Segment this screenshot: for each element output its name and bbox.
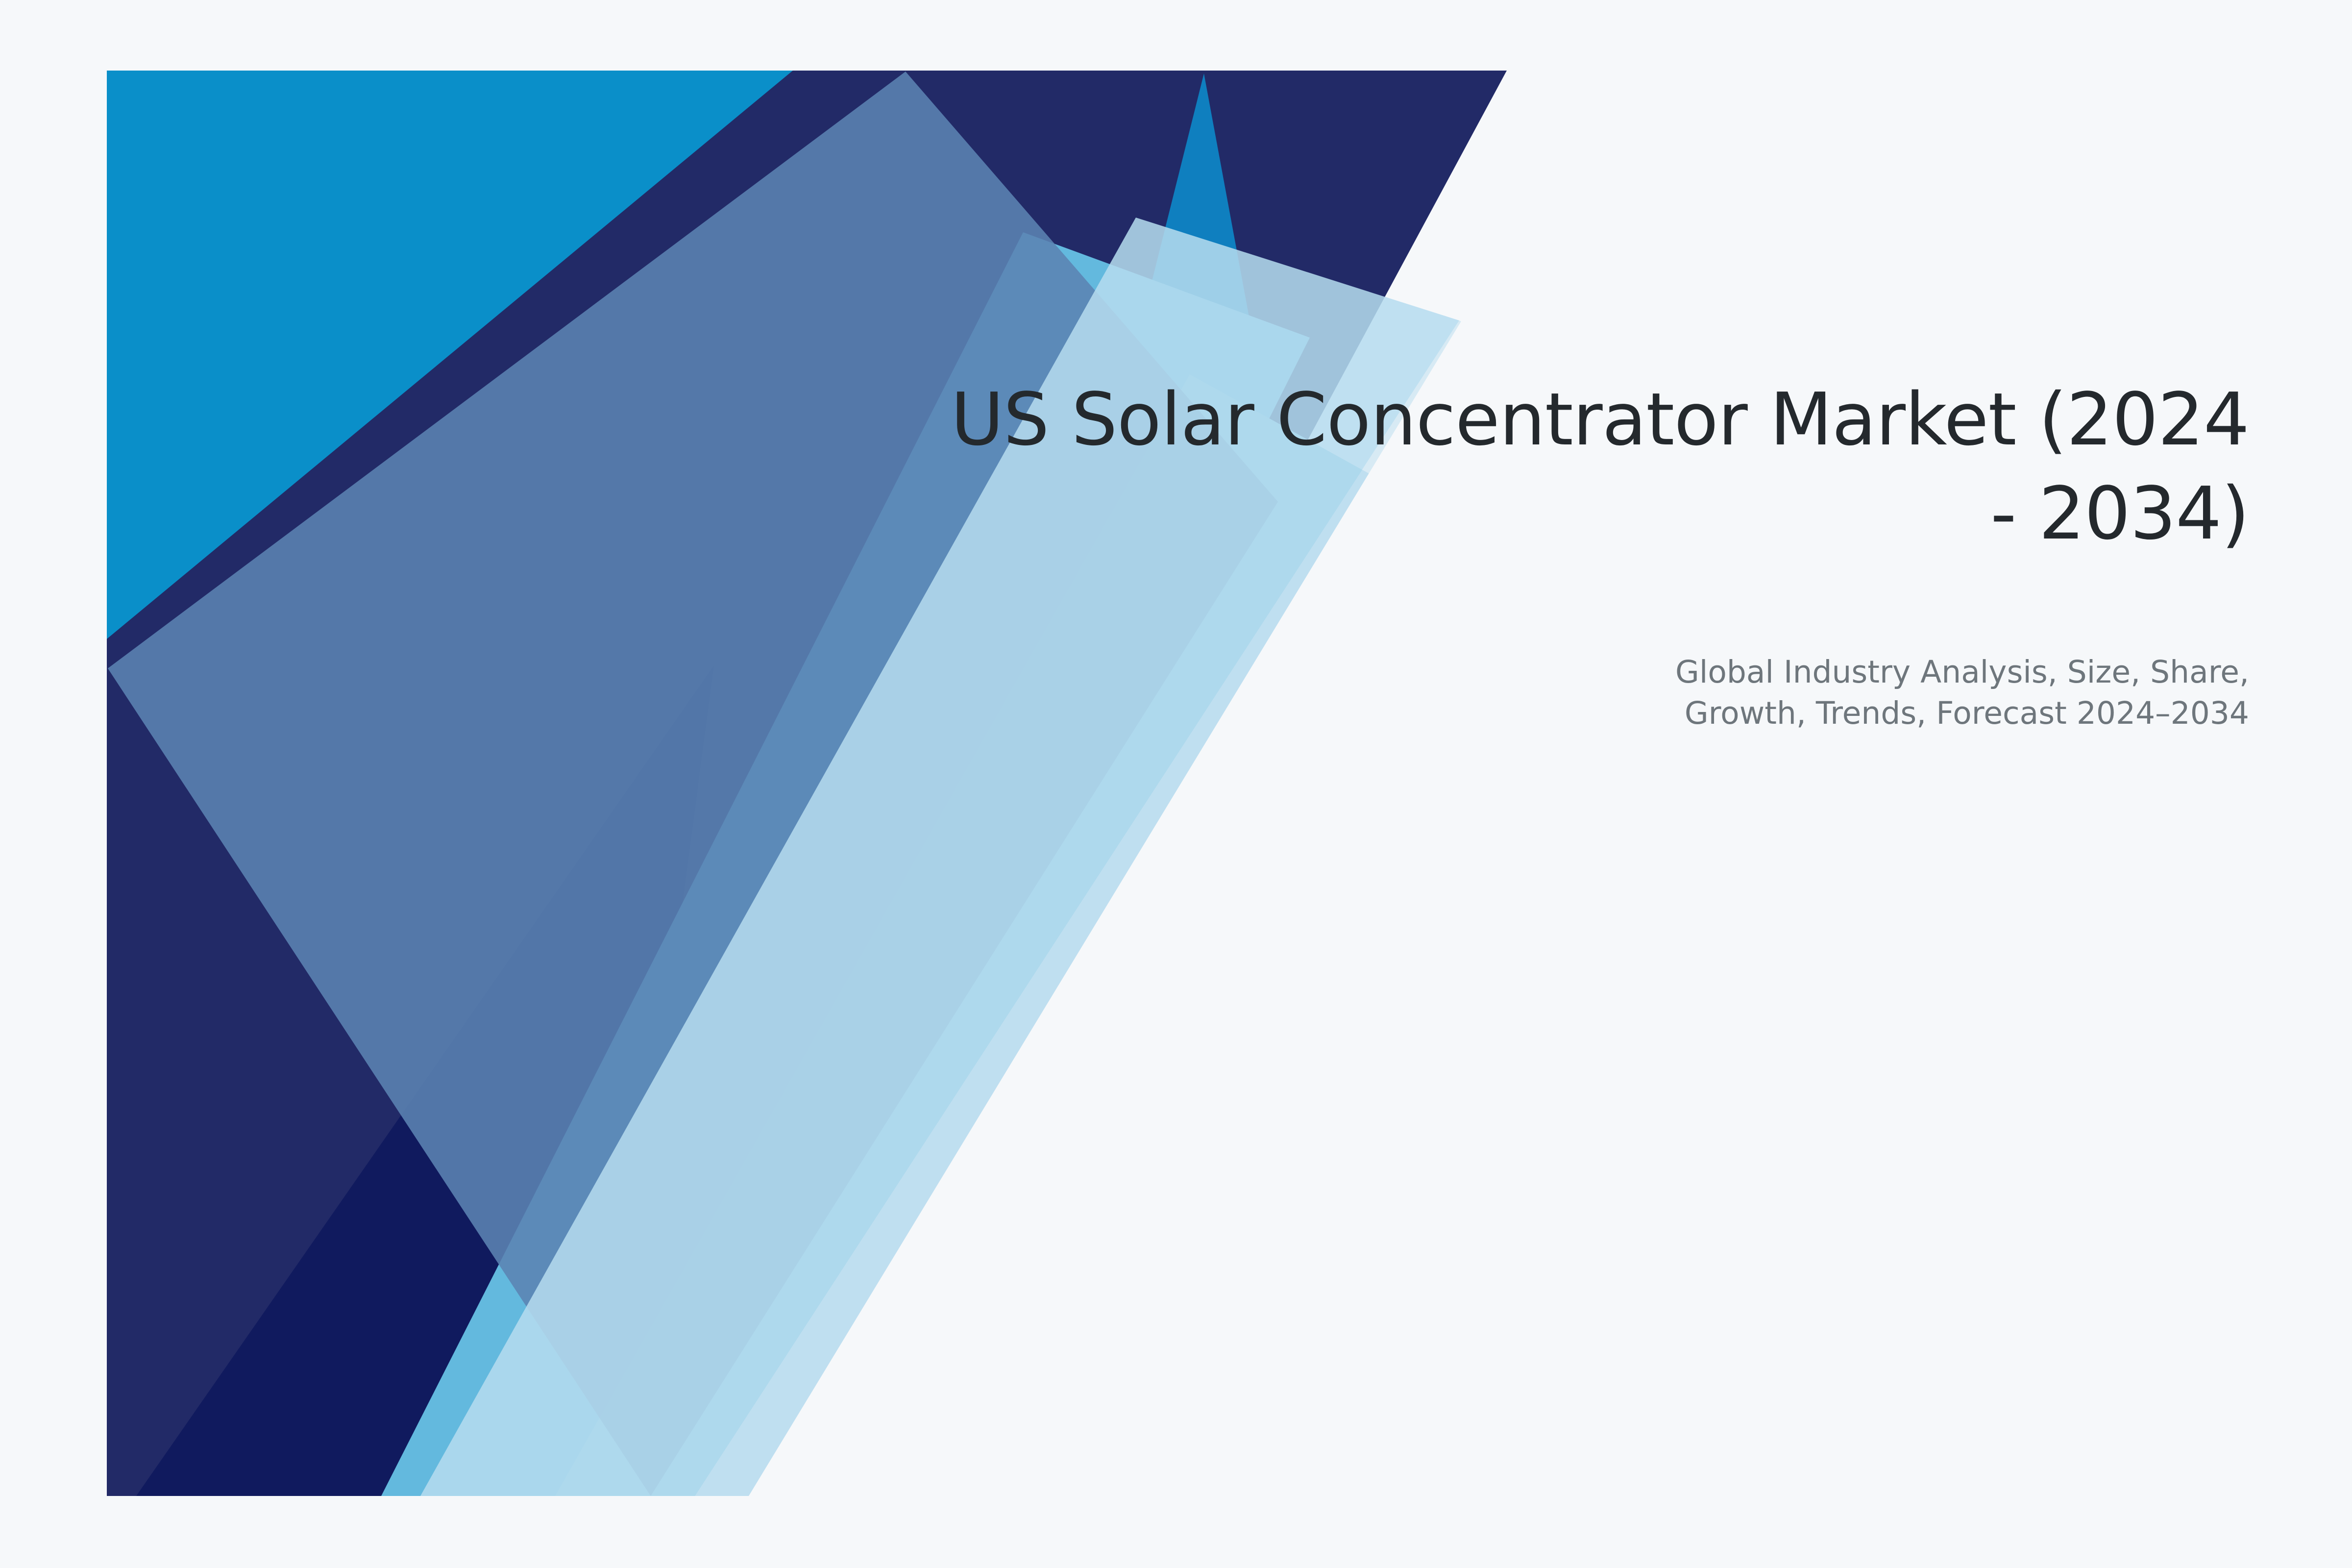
report-title: US Solar Concentrator Market (2024 - 203… (833, 372, 2249, 561)
subtitle-block: Global Industry Analysis, Size, Share, G… (1421, 652, 2249, 734)
title-block: US Solar Concentrator Market (2024 - 203… (833, 372, 2249, 561)
cover-page: US Solar Concentrator Market (2024 - 203… (0, 0, 2352, 1568)
report-subtitle: Global Industry Analysis, Size, Share, G… (1421, 652, 2249, 734)
cover-artwork (107, 71, 1509, 1496)
